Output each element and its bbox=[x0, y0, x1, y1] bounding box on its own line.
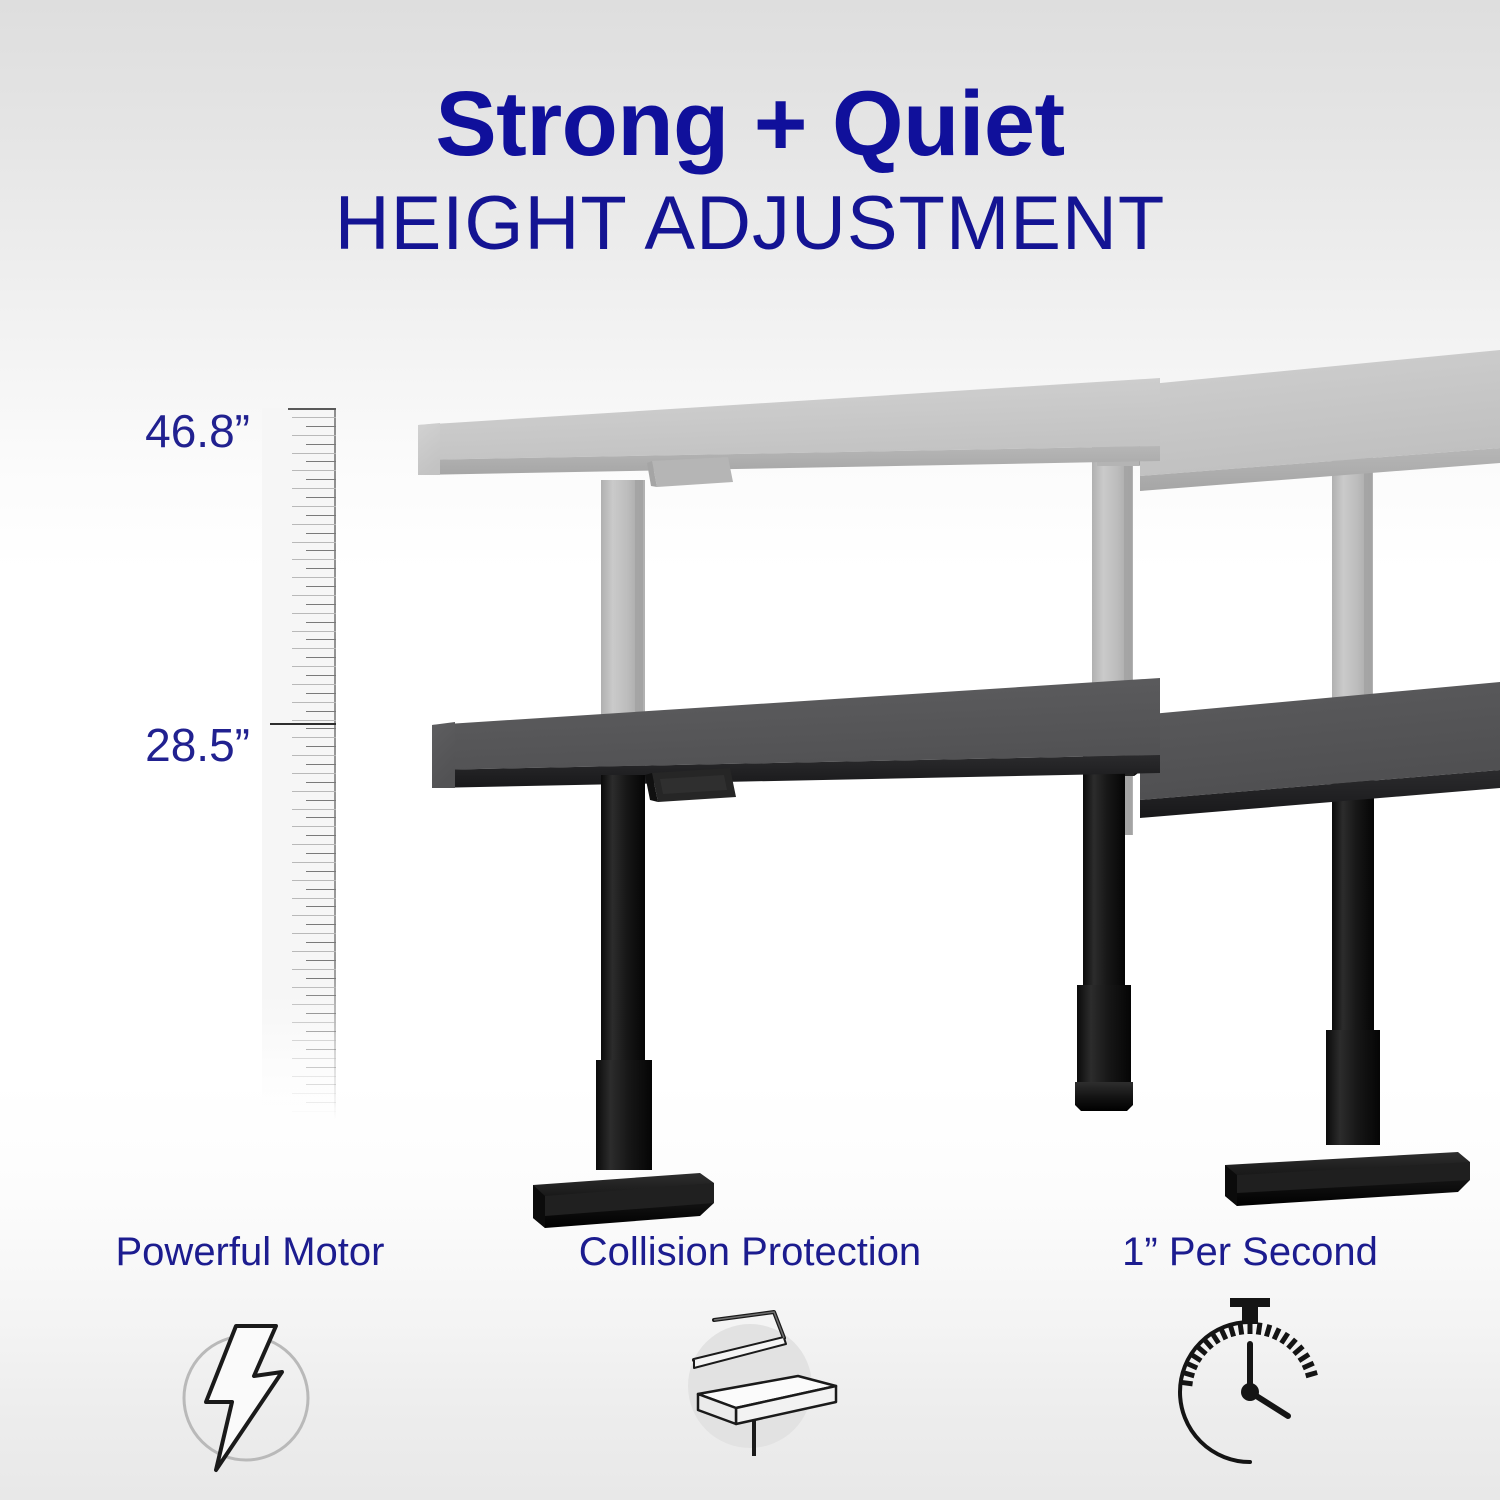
raised-desk-control-panel bbox=[647, 457, 733, 487]
raised-desk-left-top bbox=[418, 378, 1160, 475]
feature-label: 1” Per Second bbox=[1122, 1232, 1378, 1272]
lowered-desk-control-panel bbox=[645, 768, 736, 802]
desktop-collision-icon bbox=[650, 1298, 850, 1483]
lowered-desk-assembly bbox=[432, 678, 1500, 1228]
page-title: Strong + Quiet bbox=[0, 78, 1500, 170]
feature-powerful-motor: Powerful Motor bbox=[0, 1232, 500, 1483]
lowered-desk-right-leg bbox=[1225, 770, 1470, 1206]
stopwatch-icon bbox=[1150, 1298, 1350, 1483]
desk-illustration bbox=[0, 330, 1500, 1250]
lightning-bolt-icon bbox=[150, 1298, 350, 1483]
feature-label: Collision Protection bbox=[579, 1232, 921, 1272]
infographic-canvas: Strong + Quiet HEIGHT ADJUSTMENT 46.8” 2… bbox=[0, 0, 1500, 1500]
lowered-desk-right-top bbox=[1140, 682, 1500, 818]
feature-list: Powerful Motor Collision Protection bbox=[0, 1232, 1500, 1483]
lowered-desk-left-top bbox=[432, 678, 1160, 788]
feature-collision-protection: Collision Protection bbox=[500, 1232, 1000, 1483]
feature-label: Powerful Motor bbox=[116, 1232, 385, 1272]
lowered-desk-left-leg bbox=[533, 775, 714, 1228]
raised-desk-right-top bbox=[1140, 350, 1500, 491]
title-block: Strong + Quiet HEIGHT ADJUSTMENT bbox=[0, 78, 1500, 262]
lowered-desk-corner-leg bbox=[1075, 728, 1145, 1111]
feature-speed: 1” Per Second bbox=[1000, 1232, 1500, 1483]
page-subtitle: HEIGHT ADJUSTMENT bbox=[0, 186, 1500, 262]
